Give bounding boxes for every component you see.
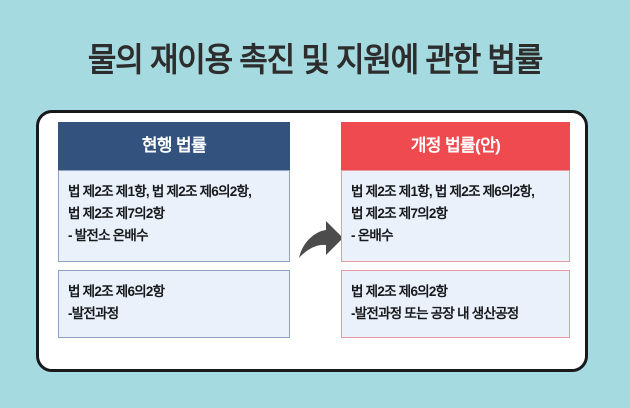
revised-law-box-1-line-3: - 온배수 <box>351 225 560 247</box>
current-law-box-2-line-1: 법 제2조 제6의2항 <box>68 281 280 303</box>
current-law-box-1: 법 제2조 제1항, 법 제2조 제6의2항, 법 제2조 제7의2항 - 발전… <box>58 170 290 262</box>
current-law-box-2: 법 제2조 제6의2항 -발전과정 <box>58 270 290 338</box>
revised-law-box-1-line-2: 법 제2조 제7의2항 <box>351 203 560 225</box>
panel-revised-law: 개정 법률(안) 법 제2조 제1항, 법 제2조 제6의2항, 법 제2조 제… <box>341 122 570 338</box>
current-law-box-1-line-1: 법 제2조 제1항, 법 제2조 제6의2항, <box>68 181 280 203</box>
current-law-box-1-line-3: - 발전소 온배수 <box>68 225 280 247</box>
right-arrow-icon <box>297 218 345 270</box>
panel-current-law: 현행 법률 법 제2조 제1항, 법 제2조 제6의2항, 법 제2조 제7의2… <box>58 122 290 338</box>
revised-law-box-1-line-1: 법 제2조 제1항, 법 제2조 제6의2항, <box>351 181 560 203</box>
panel-current-law-header: 현행 법률 <box>58 122 290 170</box>
revised-law-box-2-line-1: 법 제2조 제6의2항 <box>351 281 560 303</box>
current-law-box-2-line-2: -발전과정 <box>68 303 280 325</box>
page-title: 물의 재이용 촉진 및 지원에 관한 법률 <box>19 38 611 82</box>
revised-law-box-2: 법 제2조 제6의2항 -발전과정 또는 공장 내 생산공정 <box>341 270 570 338</box>
revised-law-box-2-line-2: -발전과정 또는 공장 내 생산공정 <box>351 303 560 325</box>
infographic-canvas: 물의 재이용 촉진 및 지원에 관한 법률 현행 법률 법 제2조 제1항, 법… <box>0 0 630 408</box>
current-law-box-1-line-2: 법 제2조 제7의2항 <box>68 203 280 225</box>
revised-law-box-1: 법 제2조 제1항, 법 제2조 제6의2항, 법 제2조 제7의2항 - 온배… <box>341 170 570 262</box>
panel-revised-law-header: 개정 법률(안) <box>341 122 570 170</box>
